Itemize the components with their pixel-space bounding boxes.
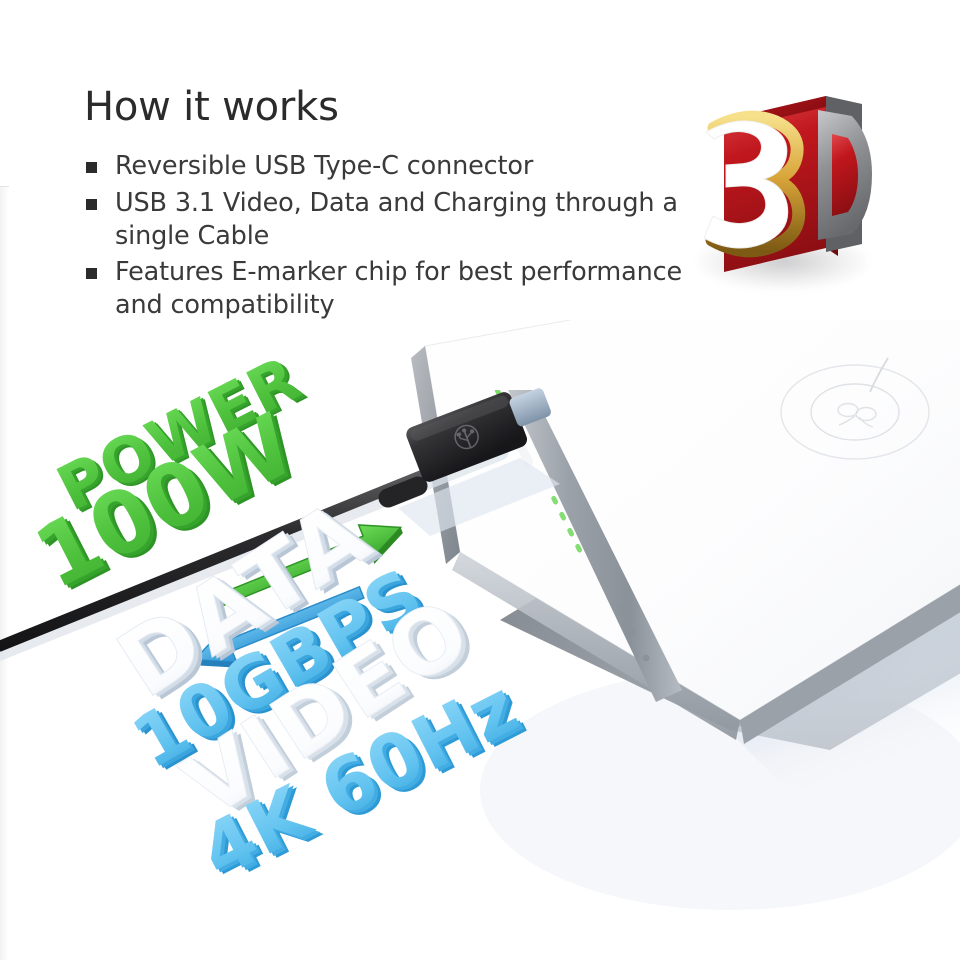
list-item: Reversible USB Type-C connector	[84, 150, 684, 183]
list-item: Features E-marker chip for best performa…	[84, 256, 684, 322]
list-item-label: USB 3.1 Video, Data and Charging through…	[115, 187, 684, 253]
list-item-label: Features E-marker chip for best performa…	[115, 256, 684, 322]
badge-letter-d	[818, 110, 872, 240]
usb-c-cable-assembly	[0, 380, 620, 710]
bullet-square-icon	[86, 162, 97, 173]
badge-3d	[666, 76, 896, 306]
page-title: How it works	[84, 86, 684, 128]
copy-block: How it works Reversible USB Type-C conne…	[84, 86, 684, 325]
bullet-square-icon	[86, 199, 97, 210]
bullet-square-icon	[86, 268, 97, 279]
list-item-label: Reversible USB Type-C connector	[115, 150, 684, 183]
feature-list: Reversible USB Type-C connector USB 3.1 …	[84, 150, 684, 322]
list-item: USB 3.1 Video, Data and Charging through…	[84, 187, 684, 253]
left-edge-divider	[0, 186, 9, 187]
marketing-infographic: How it works Reversible USB Type-C conne…	[0, 0, 960, 960]
